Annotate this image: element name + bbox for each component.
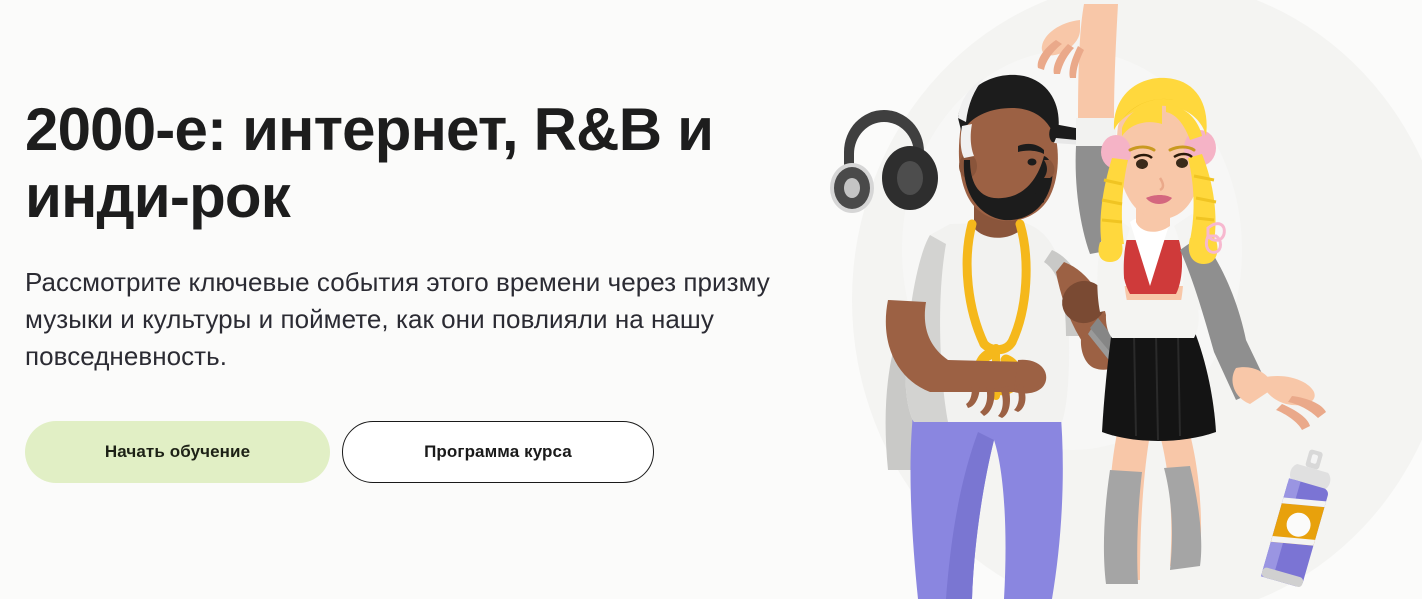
female-head [1117,102,1201,220]
earmuff-left [1101,135,1131,169]
male-head [959,101,1058,221]
female-lips [1146,195,1172,204]
male-tshirt [905,222,1069,422]
spray-paint-can [1260,445,1338,587]
pigtail-left [1098,158,1128,262]
female-leg-right [1158,420,1201,566]
female-right-arm [1180,236,1268,400]
female-right-hand [1262,376,1326,430]
hero-description: Рассмотрите ключевые события этого време… [25,264,795,375]
female-sock-left [1104,470,1142,584]
male-arm [886,300,1034,392]
microphone [1057,275,1141,385]
headphones-icon [830,110,938,213]
female-singer-figure [1038,4,1326,584]
male-rapper-figure [886,75,1143,599]
male-mic-arm [1056,262,1122,368]
hero-section: 2000-е: интернет, R&B и инди-рок Рассмот… [0,0,1422,599]
female-raised-arm [1078,4,1118,120]
female-sleeve [1076,146,1122,254]
hero-illustration [822,0,1422,599]
female-hair [1114,78,1207,136]
female-jacket [1097,214,1130,312]
gold-chain [967,224,1026,400]
female-leg-left [1108,420,1152,580]
page-title: 2000-е: интернет, R&B и инди-рок [25,96,825,230]
male-hand [966,360,1046,418]
hero-button-group: Начать обучение Программа курса [25,421,845,483]
male-jeans [911,405,1063,599]
female-raised-hand [1038,20,1084,78]
start-learning-button[interactable]: Начать обучение [25,421,330,483]
cap-brim [1049,124,1143,149]
male-beard [964,156,1053,220]
hair-bow [1206,224,1224,253]
female-red-top [1122,240,1182,294]
illustration-backdrop [852,0,1422,599]
female-skirt [1102,330,1216,441]
hero-text-block: 2000-е: интернет, R&B и инди-рок Рассмот… [25,96,845,483]
pigtail-right [1188,154,1224,264]
dollar-sign-pendant [980,344,1017,400]
course-program-button[interactable]: Программа курса [342,421,654,483]
female-sock-right [1164,466,1201,570]
male-cap [958,75,1143,158]
earmuff-right [1184,130,1216,166]
